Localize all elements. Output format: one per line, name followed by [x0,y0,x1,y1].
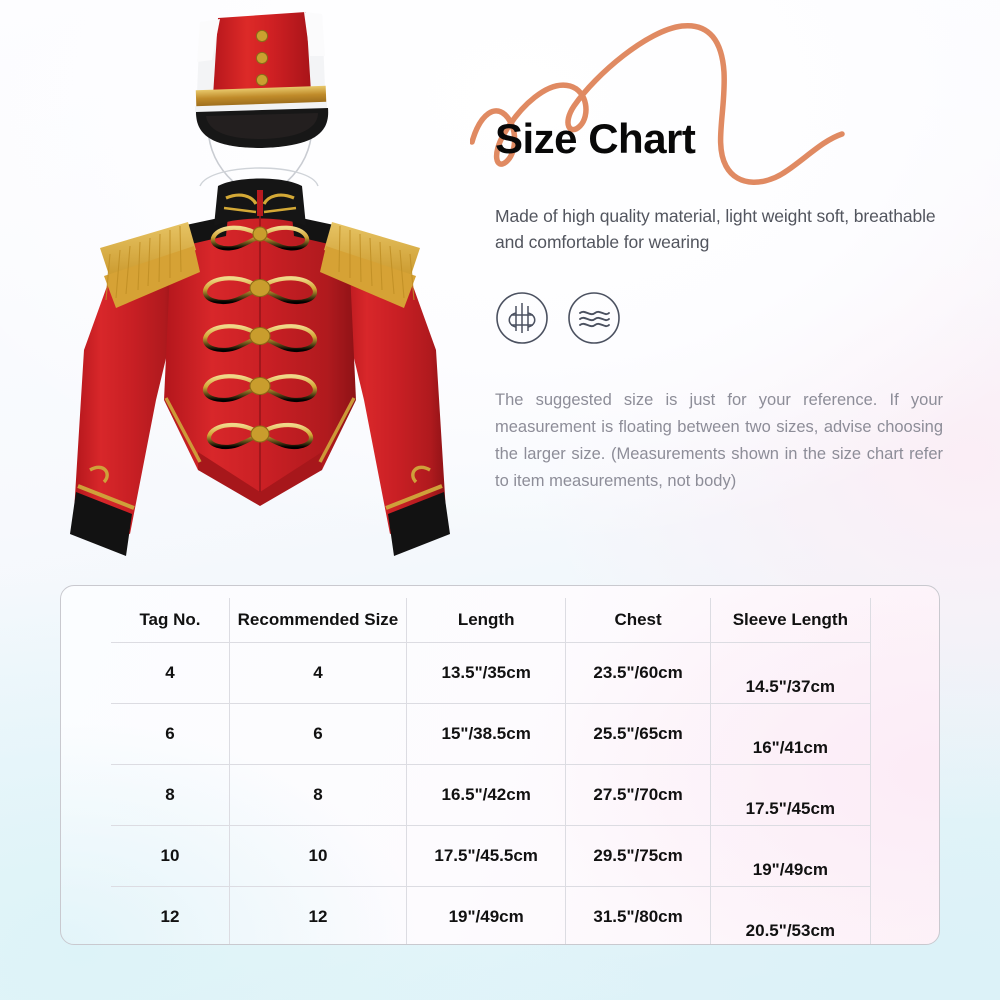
care-icon-group [495,291,945,345]
cell-rec: 4 [229,643,406,704]
cell-sleeve: 16"/41cm [710,704,870,765]
cell-sleeve: 17.5"/45cm [710,765,870,826]
cell-chest: 27.5"/70cm [566,765,710,826]
info-column: Size Chart Made of high quality material… [495,118,945,494]
column-header-sleeve-length: Sleeve Length [710,598,870,643]
jacket [70,168,450,556]
cell-tag: 8 [111,765,229,826]
cell-chest: 31.5"/80cm [566,887,710,946]
cell-sleeve: 14.5"/37cm [710,643,870,704]
breathable-waves-icon [567,291,621,345]
cell-sleeve: 19"/49cm [710,826,870,887]
page-title: Size Chart [495,118,945,160]
shako-hat [195,12,328,198]
column-header-recommended-size: Recommended Size [229,598,406,643]
cell-length: 13.5"/35cm [406,643,565,704]
size-table-card: Tag No. Recommended Size Length Chest Sl… [60,585,940,945]
column-header-chest: Chest [566,598,710,643]
product-image-soldier-jacket [60,0,460,570]
table-row: 6 6 15"/38.5cm 25.5"/65cm 16"/41cm [111,704,871,765]
size-table: Tag No. Recommended Size Length Chest Sl… [111,598,871,945]
table-row: 12 12 19"/49cm 31.5"/80cm 20.5"/53cm [111,887,871,946]
size-chart-page: Size Chart Made of high quality material… [0,0,1000,1000]
cell-chest: 29.5"/75cm [566,826,710,887]
table-row: 10 10 17.5"/45.5cm 29.5"/75cm 19"/49cm [111,826,871,887]
cell-chest: 25.5"/65cm [566,704,710,765]
cell-length: 15"/38.5cm [406,704,565,765]
cell-sleeve: 20.5"/53cm [710,887,870,946]
product-subtitle: Made of high quality material, light wei… [495,204,945,255]
cell-tag: 12 [111,887,229,946]
sizing-note: The suggested size is just for your refe… [495,387,943,494]
cell-chest: 23.5"/60cm [566,643,710,704]
column-header-length: Length [406,598,565,643]
lightweight-fabric-icon [495,291,549,345]
table-header-row: Tag No. Recommended Size Length Chest Sl… [111,598,871,643]
table-row: 4 4 13.5"/35cm 23.5"/60cm 14.5"/37cm [111,643,871,704]
cell-length: 16.5"/42cm [406,765,565,826]
cell-tag: 6 [111,704,229,765]
cell-length: 17.5"/45.5cm [406,826,565,887]
table-row: 8 8 16.5"/42cm 27.5"/70cm 17.5"/45cm [111,765,871,826]
column-header-tag-no: Tag No. [111,598,229,643]
cell-rec: 6 [229,704,406,765]
cell-length: 19"/49cm [406,887,565,946]
cell-rec: 12 [229,887,406,946]
cell-rec: 8 [229,765,406,826]
cell-tag: 4 [111,643,229,704]
cell-rec: 10 [229,826,406,887]
cell-tag: 10 [111,826,229,887]
